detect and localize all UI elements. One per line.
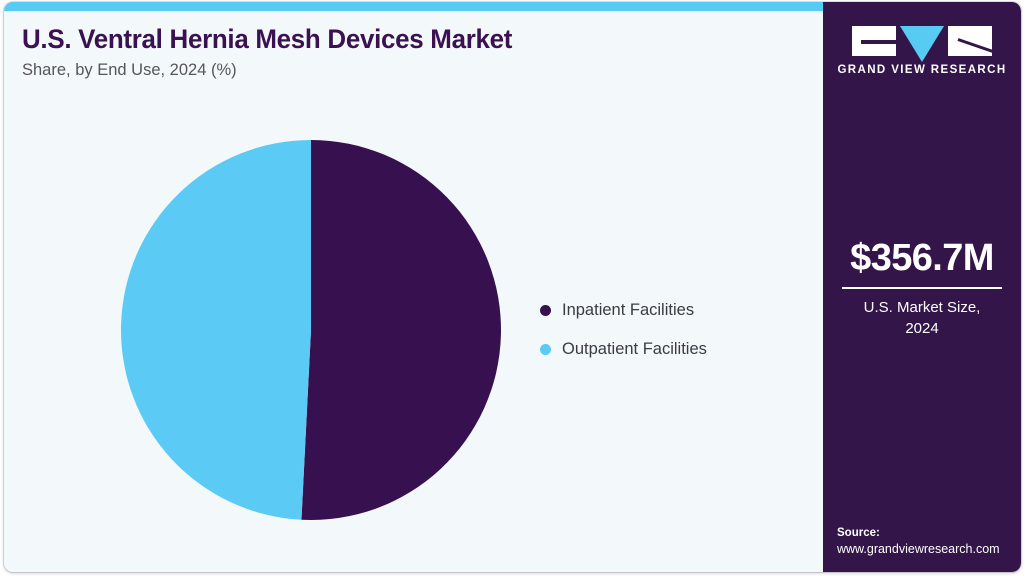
pie-slice-outpatient[interactable] <box>121 140 311 520</box>
market-size-caption: U.S. Market Size, 2024 <box>823 297 1021 339</box>
brand-sidebar: GRAND VIEW RESEARCH $356.7M U.S. Market … <box>823 2 1021 572</box>
legend-swatch-outpatient <box>540 344 551 355</box>
legend-label-outpatient: Outpatient Facilities <box>562 340 707 359</box>
legend-swatch-inpatient <box>540 305 551 316</box>
logo-wordmark: GRAND VIEW RESEARCH <box>823 64 1021 76</box>
logo-letter-r-icon <box>948 26 992 56</box>
pie-chart <box>121 140 501 520</box>
legend-item-inpatient[interactable]: Inpatient Facilities <box>540 300 707 320</box>
source-footer: Source: www.grandviewresearch.com <box>837 525 1017 558</box>
legend-item-outpatient[interactable]: Outpatient Facilities <box>540 339 707 359</box>
source-url[interactable]: www.grandviewresearch.com <box>837 541 1017 558</box>
market-size-stat: $356.7M U.S. Market Size, 2024 <box>823 236 1021 339</box>
chart-header: U.S. Ventral Hernia Mesh Devices Market … <box>22 22 792 81</box>
logo-marks <box>823 26 1021 56</box>
top-accent-bar <box>4 2 823 11</box>
logo-letter-g-icon <box>852 26 896 56</box>
page-title: U.S. Ventral Hernia Mesh Devices Market <box>22 22 761 56</box>
grand-view-research-logo: GRAND VIEW RESEARCH <box>823 26 1021 76</box>
market-size-value: $356.7M <box>823 236 1021 280</box>
logo-letter-v-icon <box>900 26 944 62</box>
chart-legend: Inpatient Facilities Outpatient Faciliti… <box>540 300 707 378</box>
legend-label-inpatient: Inpatient Facilities <box>562 301 694 320</box>
stat-divider <box>842 287 1002 289</box>
pie-slice-inpatient[interactable] <box>301 140 501 520</box>
page-subtitle: Share, by End Use, 2024 (%) <box>22 59 792 81</box>
chart-card: U.S. Ventral Hernia Mesh Devices Market … <box>4 2 1021 572</box>
source-label: Source: <box>837 525 1017 541</box>
plot-area: Inpatient Facilities Outpatient Faciliti… <box>4 98 823 572</box>
